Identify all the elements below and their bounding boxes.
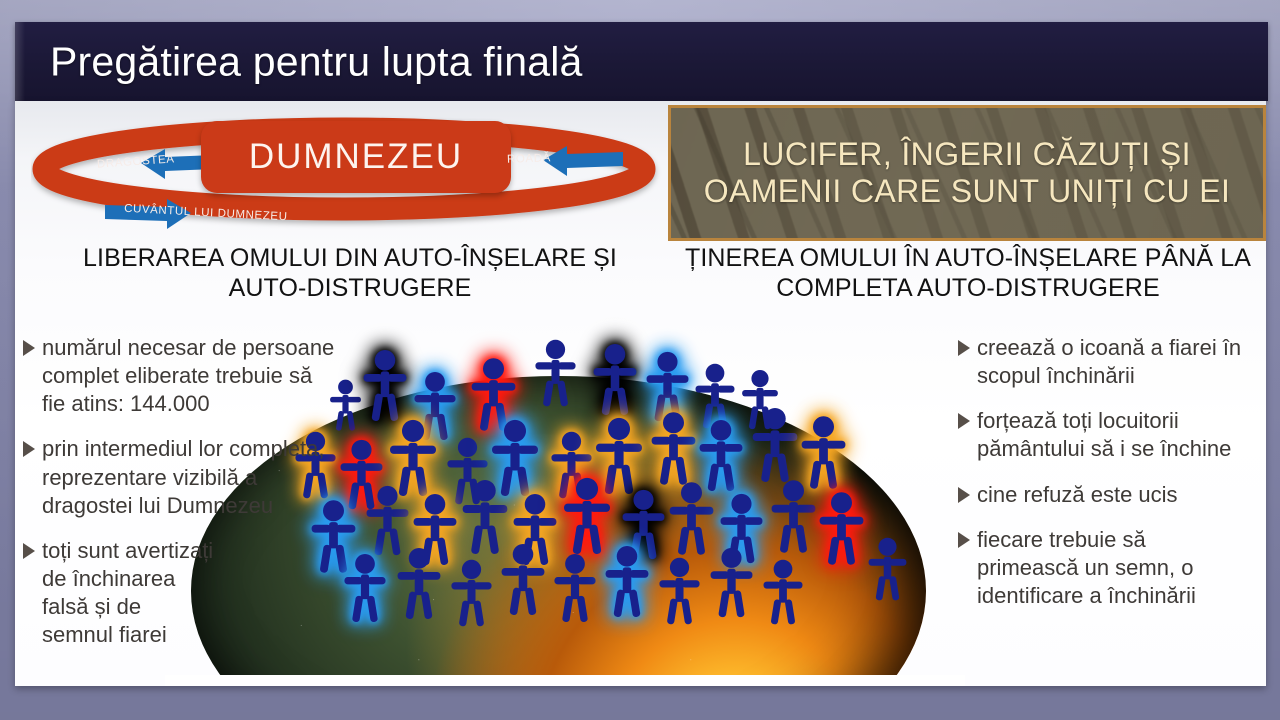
triangle-bullet-icon [23, 340, 35, 356]
triangle-bullet-icon [23, 441, 35, 457]
bullet-item-right-4: fiecare trebuie să primească un semn, o … [955, 526, 1266, 610]
bullet-item-right-1: creează o icoană a fiarei în scopul înch… [955, 334, 1266, 390]
triangle-bullet-icon [958, 413, 970, 429]
bullet-item-right-3: cine refuză este ucis [955, 481, 1266, 509]
bullet-item-left-3: toți sunt avertizați de închinarea falsă… [20, 537, 390, 650]
bullet-text: numărul necesar de persoane complet elib… [42, 334, 390, 418]
lucifer-line-1: LUCIFER, ÎNGERII CĂZUȚI ȘI [704, 136, 1231, 173]
slide-root: Pregătirea pentru lupta finală [0, 0, 1280, 720]
dumnezeu-cycle-diagram: DUMNEZEU DRAGOSTEA ROADĂ CUVÂNTUL LUI DU… [31, 115, 666, 230]
dumnezeu-box: DUMNEZEU [201, 121, 511, 193]
lucifer-line-2: OAMENII CARE SUNT UNIȚI CU EI [704, 173, 1231, 210]
triangle-bullet-icon [958, 340, 970, 356]
bullet-text: cine refuză este ucis [977, 481, 1266, 509]
lucifer-header-text: LUCIFER, ÎNGERII CĂZUȚI ȘI OAMENII CARE … [694, 136, 1241, 210]
triangle-bullet-icon [958, 487, 970, 503]
bullet-item-left-2: prin intermediul lor completa, reprezent… [20, 435, 390, 519]
page-title: Pregătirea pentru lupta finală [50, 38, 583, 85]
bullet-text: fiecare trebuie să primească un semn, o … [977, 526, 1266, 610]
bullet-item-right-2: forțează toți locuitorii pământului să i… [955, 407, 1266, 463]
bullet-list-right: creează o icoană a fiarei în scopul înch… [955, 334, 1266, 627]
subheading-left: LIBERAREA OMULUI DIN AUTO-ÎNȘELARE ȘI AU… [45, 244, 655, 303]
bullet-text: forțează toți locuitorii pământului să i… [977, 407, 1266, 463]
content-card: DUMNEZEU DRAGOSTEA ROADĂ CUVÂNTUL LUI DU… [15, 101, 1266, 686]
bullet-text: toți sunt avertizați de închinarea falsă… [42, 537, 390, 650]
lucifer-header-box: LUCIFER, ÎNGERII CĂZUȚI ȘI OAMENII CARE … [668, 105, 1266, 241]
bullet-text: creează o icoană a fiarei în scopul înch… [977, 334, 1266, 390]
title-band: Pregătirea pentru lupta finală [15, 22, 1268, 101]
subheading-right: ȚINEREA OMULUI ÎN AUTO-ÎNȘELARE PÂNĂ LA … [670, 244, 1266, 303]
bullet-text: prin intermediul lor completa, reprezent… [42, 435, 390, 519]
bullet-list-left: numărul necesar de persoane complet elib… [20, 334, 390, 667]
globe-bottom-mask [165, 675, 965, 686]
triangle-bullet-icon [23, 543, 35, 559]
dumnezeu-label: DUMNEZEU [249, 137, 463, 177]
triangle-bullet-icon [958, 532, 970, 548]
bullet-item-left-1: numărul necesar de persoane complet elib… [20, 334, 390, 418]
ring-label-roada: ROADĂ [507, 152, 551, 166]
